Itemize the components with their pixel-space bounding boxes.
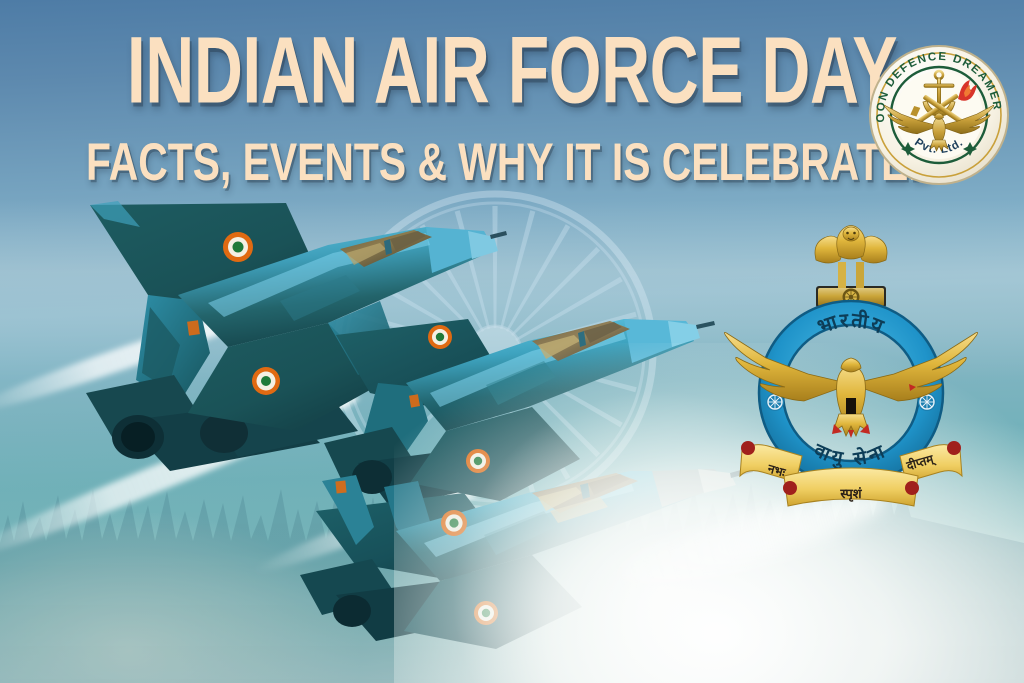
doon-defence-dreamers-logo[interactable]: DOON DEFENCE DREAMERS Pvt. Ltd. [868, 44, 1010, 186]
indian-air-force-crest: भारतीय वायु सेना [712, 198, 990, 528]
crest-motto-center: स्पृशं [839, 486, 862, 502]
poster-canvas: भारतीय वायु सेना [0, 0, 1024, 683]
